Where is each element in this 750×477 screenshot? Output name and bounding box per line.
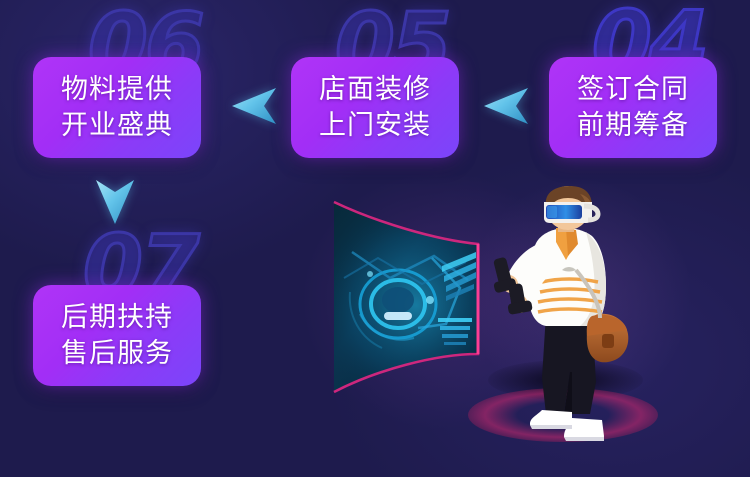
step-box-06[interactable]: 物料提供 开业盛典 bbox=[33, 57, 201, 158]
infographic-canvas: 06 05 04 07 物料提供 开业盛典 店面装修 上门安装 签订合同 前期筹… bbox=[0, 0, 750, 477]
step-box-05[interactable]: 店面装修 上门安装 bbox=[291, 57, 459, 158]
step-box-05-line-1: 店面装修 bbox=[319, 72, 431, 108]
arrow-left-icon bbox=[482, 84, 530, 128]
step-box-04[interactable]: 签订合同 前期筹备 bbox=[549, 57, 717, 158]
step-box-07[interactable]: 后期扶持 售后服务 bbox=[33, 285, 201, 386]
step-box-05-line-2: 上门安装 bbox=[319, 108, 431, 144]
step-box-07-line-2: 售后服务 bbox=[61, 336, 173, 372]
step-box-06-line-2: 开业盛典 bbox=[61, 108, 173, 144]
step-box-04-line-1: 签订合同 bbox=[577, 72, 689, 108]
arrow-left-icon bbox=[230, 84, 278, 128]
vr-user-figure bbox=[480, 186, 670, 446]
step-box-04-line-2: 前期筹备 bbox=[577, 108, 689, 144]
step-box-06-line-1: 物料提供 bbox=[61, 72, 173, 108]
step-box-07-line-1: 后期扶持 bbox=[61, 300, 173, 336]
arrow-down-icon bbox=[92, 178, 138, 226]
